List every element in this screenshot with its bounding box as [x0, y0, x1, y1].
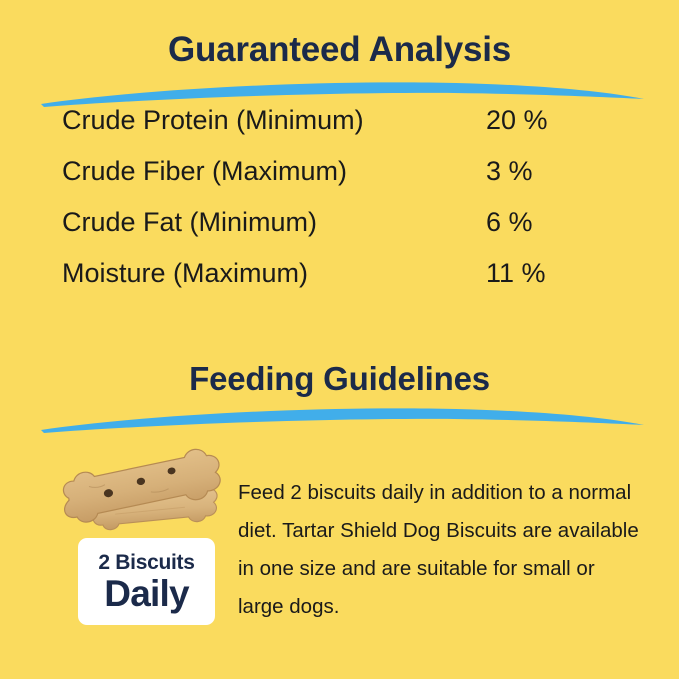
- badge-line-2: Daily: [104, 575, 188, 613]
- badge-line-1: 2 Biscuits: [98, 551, 194, 575]
- table-row: Moisture (Maximum) 11 %: [62, 258, 622, 309]
- product-info-panel: Guaranteed Analysis Crude Protein (Minim…: [0, 0, 679, 679]
- analysis-row-label: Crude Fiber (Maximum): [62, 156, 486, 187]
- blue-swoosh-divider-feeding: [38, 404, 646, 434]
- feeding-instructions-text: Feed 2 biscuits daily in addition to a n…: [238, 474, 642, 626]
- analysis-row-value: 11 %: [486, 258, 546, 289]
- table-row: Crude Fat (Minimum) 6 %: [62, 207, 622, 258]
- analysis-row-label: Moisture (Maximum): [62, 258, 486, 289]
- analysis-row-value: 20 %: [486, 105, 548, 136]
- feeding-guidelines-body: 2 Biscuits Daily Feed 2 biscuits daily i…: [0, 440, 679, 640]
- blue-swoosh-divider-analysis: [38, 78, 646, 108]
- analysis-row-value: 3 %: [486, 156, 533, 187]
- analysis-row-value: 6 %: [486, 207, 533, 238]
- analysis-row-label: Crude Fat (Minimum): [62, 207, 486, 238]
- table-row: Crude Protein (Minimum) 20 %: [62, 105, 622, 156]
- feeding-guidelines-title: Feeding Guidelines: [0, 358, 679, 400]
- analysis-row-label: Crude Protein (Minimum): [62, 105, 486, 136]
- guaranteed-analysis-title: Guaranteed Analysis: [0, 28, 679, 72]
- biscuits-daily-badge: 2 Biscuits Daily: [78, 538, 215, 625]
- table-row: Crude Fiber (Maximum) 3 %: [62, 156, 622, 207]
- guaranteed-analysis-table: Crude Protein (Minimum) 20 % Crude Fiber…: [62, 105, 622, 309]
